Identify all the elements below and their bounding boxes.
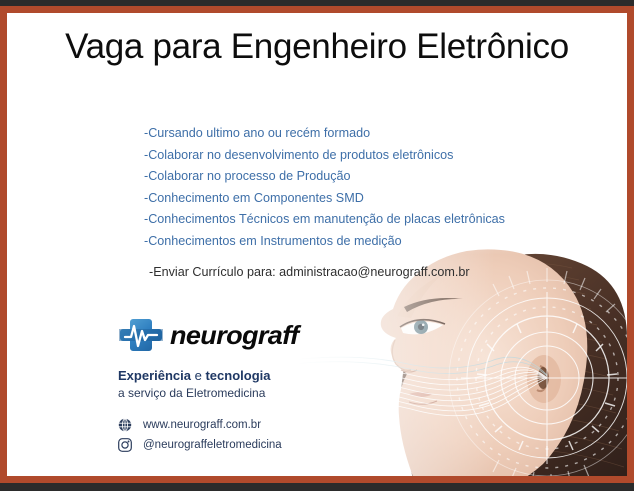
- list-item: -Colaborar no desenvolvimento de produto…: [144, 145, 564, 167]
- list-item: -Colaborar no processo de Produção: [144, 166, 564, 188]
- contact-instagram[interactable]: @neurograffeletromedicina: [118, 436, 368, 453]
- logo-wordmark: neurograff: [170, 320, 298, 351]
- flyer-content-area: Vaga para Engenheiro Eletrônico: [7, 13, 627, 476]
- instagram-icon: [118, 438, 132, 452]
- logo-lockup: neurograff: [118, 313, 368, 357]
- globe-icon: [118, 418, 132, 432]
- company-logo-block: neurograff Experiência e tecnologia a se…: [118, 313, 368, 456]
- contact-website[interactable]: www.neurograff.com.br: [118, 416, 368, 433]
- requirements-list: -Cursando ultimo ano ou recém formado -C…: [144, 123, 564, 252]
- top-accent-band: [0, 6, 634, 13]
- logo-tagline-primary: Experiência e tecnologia: [118, 368, 368, 383]
- list-item: -Cursando ultimo ano ou recém formado: [144, 123, 564, 145]
- list-item: -Conhecimentos Técnicos em manutenção de…: [144, 209, 564, 231]
- logo-tagline-secondary: a serviço da Eletromedicina: [118, 386, 368, 400]
- bottom-accent-band: [0, 476, 634, 483]
- list-item: -Conhecimento em Componentes SMD: [144, 188, 564, 210]
- tagline-word-technology: tecnologia: [205, 368, 270, 383]
- page-title: Vaga para Engenheiro Eletrônico: [7, 27, 627, 67]
- tagline-word-experience: Experiência: [118, 368, 191, 383]
- website-url: www.neurograff.com.br: [143, 419, 261, 431]
- instagram-handle: @neurograffeletromedicina: [143, 439, 282, 451]
- medical-cross-ecg-icon: [118, 315, 164, 355]
- list-item: -Conhecimentos em Instrumentos de mediçã…: [144, 231, 564, 253]
- tagline-conjunction: e: [191, 368, 205, 383]
- contact-list: www.neurograff.com.br @neurograffeletrom…: [118, 416, 368, 453]
- left-accent-border: [0, 6, 7, 483]
- application-email-line: -Enviar Currículo para: administracao@ne…: [149, 265, 470, 279]
- flyer-poster: Vaga para Engenheiro Eletrônico: [0, 0, 634, 491]
- right-accent-border: [627, 6, 634, 483]
